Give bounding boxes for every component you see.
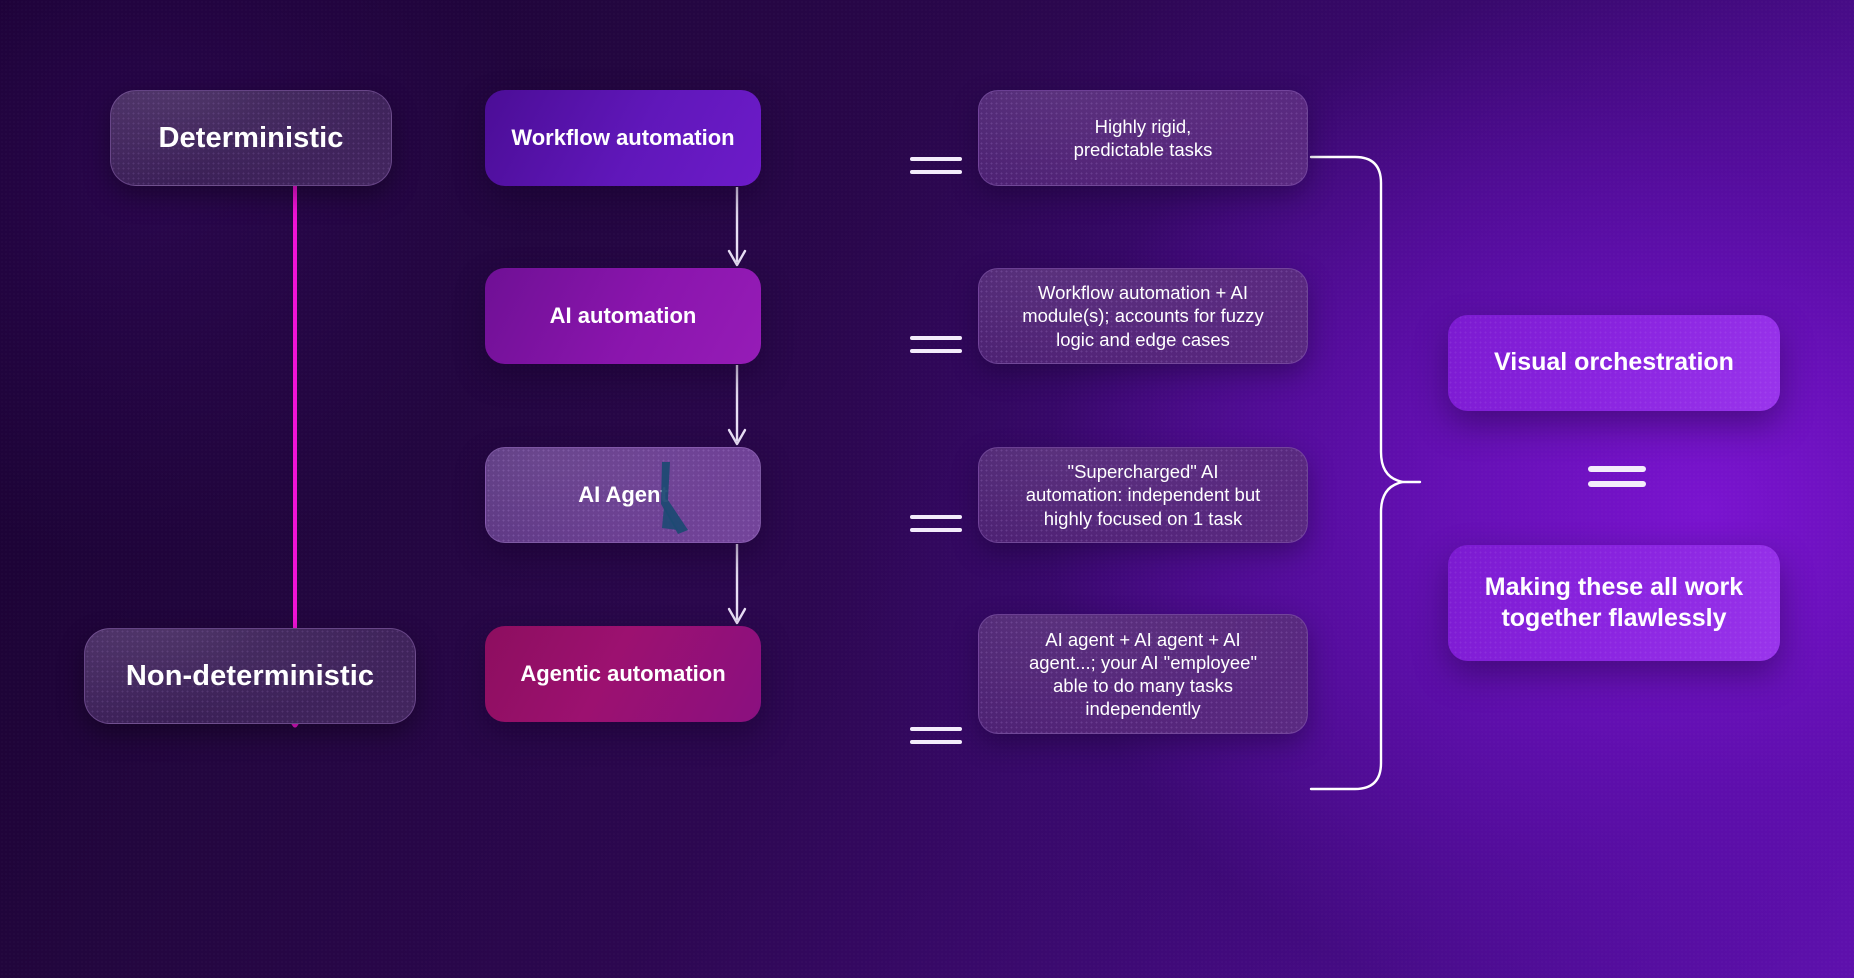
outcome-node-visual-orchestration[interactable]: Visual orchestration [1448, 315, 1780, 411]
arrow-aiauto-to-aiagent [729, 365, 745, 444]
description-node-ai-automation-text: Workflow automation + AImodule(s); accou… [1022, 281, 1264, 350]
arrow-aiagent-to-agentic [729, 544, 745, 623]
spectrum-label-non-deterministic-text: Non-deterministic [126, 658, 374, 694]
stage-node-ai-automation[interactable]: AI automation [485, 268, 761, 364]
stage-node-workflow-automation-label: Workflow automation [511, 124, 734, 152]
stage-node-ai-automation-label: AI automation [550, 302, 697, 330]
description-node-ai-automation[interactable]: Workflow automation + AImodule(s); accou… [978, 268, 1308, 364]
outcome-node-definition-text: Making these all worktogether flawlessly [1485, 572, 1743, 635]
spectrum-label-non-deterministic[interactable]: Non-deterministic [84, 628, 416, 724]
equals-icon-agentic [910, 720, 962, 750]
description-node-workflow-automation-text: Highly rigid,predictable tasks [1074, 115, 1213, 161]
description-node-agentic-automation[interactable]: AI agent + AI agent + AIagent...; your A… [978, 614, 1308, 734]
equals-icon-ai-automation [910, 329, 962, 359]
outcome-node-definition[interactable]: Making these all worktogether flawlessly [1448, 545, 1780, 661]
description-node-ai-agent-text: "Supercharged" AIautomation: independent… [1026, 460, 1261, 529]
spectrum-label-deterministic[interactable]: Deterministic [110, 90, 392, 186]
stage-node-workflow-automation[interactable]: Workflow automation [485, 90, 761, 186]
stage-node-agentic-automation-label: Agentic automation [520, 660, 725, 688]
description-node-agentic-automation-text: AI agent + AI agent + AIagent...; your A… [1029, 628, 1257, 721]
description-node-ai-agent[interactable]: "Supercharged" AIautomation: independent… [978, 447, 1308, 543]
equals-icon-outcome [1588, 460, 1646, 492]
stage-node-ai-agent[interactable]: AI Agent [485, 447, 761, 543]
description-node-workflow-automation[interactable]: Highly rigid,predictable tasks [978, 90, 1308, 186]
spectrum-label-deterministic-text: Deterministic [158, 120, 343, 156]
diagram-canvas: Deterministic Non-deterministic Workflow… [0, 0, 1854, 978]
grouping-brace [1311, 157, 1420, 789]
stage-node-ai-agent-label: AI Agent [578, 481, 668, 509]
stage-node-agentic-automation[interactable]: Agentic automation [485, 626, 761, 722]
arrow-workflow-to-aiauto [729, 187, 745, 265]
equals-icon-ai-agent [910, 508, 962, 538]
stage-flow-arrows [729, 187, 745, 623]
equals-icon-workflow [910, 150, 962, 180]
outcome-node-visual-orchestration-label: Visual orchestration [1494, 347, 1734, 378]
